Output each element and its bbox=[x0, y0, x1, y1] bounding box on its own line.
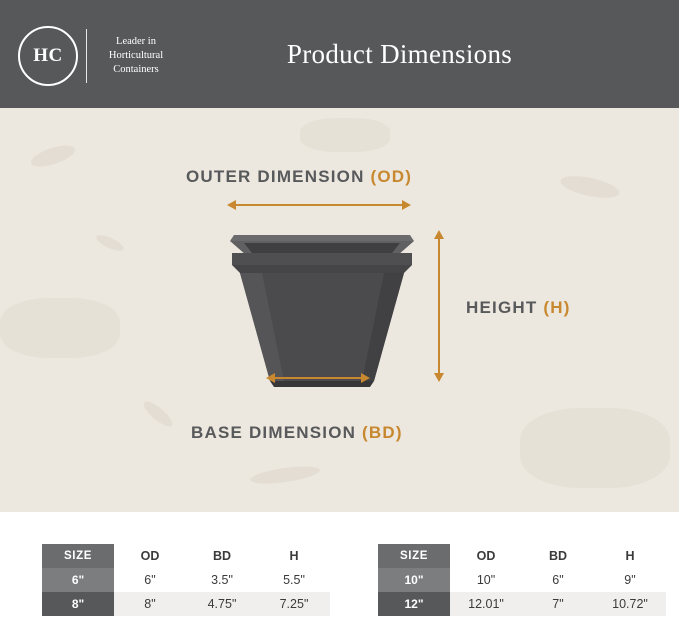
texture-speckle bbox=[249, 463, 320, 487]
cell-h: 5.5" bbox=[258, 568, 330, 592]
outer-dimension-label: OUTER DIMENSION (OD) bbox=[186, 167, 412, 187]
dimensions-table-large: SIZE OD BD H 10" 10" 6" 9" 12" 12.01" 7"… bbox=[378, 544, 666, 616]
texture-speckle bbox=[300, 118, 390, 152]
planter-illustration bbox=[222, 229, 472, 389]
dimensions-table-small: SIZE OD BD H 6" 6" 3.5" 5.5" 8" 8" 4.75"… bbox=[42, 544, 330, 616]
cell-bd: 3.5" bbox=[186, 568, 258, 592]
cell-od: 12.01" bbox=[450, 592, 522, 616]
cell-bd: 4.75" bbox=[186, 592, 258, 616]
column-header-bd: BD bbox=[522, 544, 594, 568]
cell-size: 6" bbox=[42, 568, 114, 592]
height-text: HEIGHT bbox=[466, 298, 537, 317]
page-header: HC Leader in Horticultural Containers Pr… bbox=[0, 0, 679, 108]
column-header-bd: BD bbox=[186, 544, 258, 568]
height-abbr: (H) bbox=[543, 298, 570, 317]
column-header-h: H bbox=[258, 544, 330, 568]
texture-speckle bbox=[520, 408, 670, 488]
cell-h: 7.25" bbox=[258, 592, 330, 616]
table-header-row: SIZE OD BD H bbox=[42, 544, 330, 568]
cell-bd: 6" bbox=[522, 568, 594, 592]
texture-speckle bbox=[559, 172, 621, 202]
page-title: Product Dimensions bbox=[0, 0, 679, 108]
cell-h: 10.72" bbox=[594, 592, 666, 616]
cell-size: 8" bbox=[42, 592, 114, 616]
table-row: 12" 12.01" 7" 10.72" bbox=[378, 592, 666, 616]
outer-dimension-text: OUTER DIMENSION bbox=[186, 167, 365, 186]
cell-size: 10" bbox=[378, 568, 450, 592]
table-row: 6" 6" 3.5" 5.5" bbox=[42, 568, 330, 592]
height-label: HEIGHT (H) bbox=[466, 298, 571, 318]
cell-od: 10" bbox=[450, 568, 522, 592]
texture-speckle bbox=[94, 232, 125, 254]
table-row: 10" 10" 6" 9" bbox=[378, 568, 666, 592]
dimensions-diagram: OUTER DIMENSION (OD) HEIGHT (H) bbox=[0, 108, 679, 512]
texture-speckle bbox=[0, 298, 120, 358]
cell-bd: 7" bbox=[522, 592, 594, 616]
column-header-size: SIZE bbox=[378, 544, 450, 568]
base-dimension-text: BASE DIMENSION bbox=[191, 423, 356, 442]
outer-dimension-abbr: (OD) bbox=[371, 167, 413, 186]
texture-speckle bbox=[29, 141, 78, 170]
column-header-od: OD bbox=[450, 544, 522, 568]
table-row: 8" 8" 4.75" 7.25" bbox=[42, 592, 330, 616]
column-header-h: H bbox=[594, 544, 666, 568]
cell-h: 9" bbox=[594, 568, 666, 592]
cell-od: 6" bbox=[114, 568, 186, 592]
column-header-od: OD bbox=[114, 544, 186, 568]
cell-size: 12" bbox=[378, 592, 450, 616]
cell-od: 8" bbox=[114, 592, 186, 616]
texture-speckle bbox=[140, 398, 175, 430]
column-header-size: SIZE bbox=[42, 544, 114, 568]
base-dimension-label: BASE DIMENSION (BD) bbox=[191, 423, 403, 443]
base-dimension-abbr: (BD) bbox=[362, 423, 403, 442]
dimensions-tables: SIZE OD BD H 6" 6" 3.5" 5.5" 8" 8" 4.75"… bbox=[0, 512, 679, 636]
table-header-row: SIZE OD BD H bbox=[378, 544, 666, 568]
